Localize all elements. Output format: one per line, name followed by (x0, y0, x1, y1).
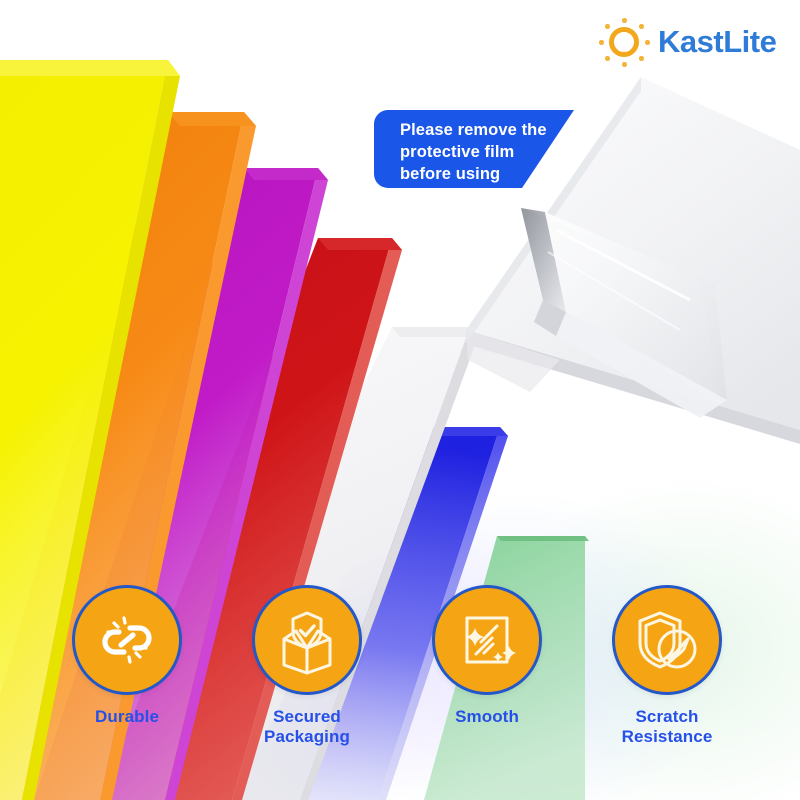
product-marketing-image: KastLite Please remove the protective fi… (0, 0, 800, 800)
feature-secured-packaging: Secured Packaging (217, 585, 397, 748)
scratch-resistance-label: Scratch Resistance (577, 707, 757, 748)
feature-scratch-resistance: Scratch Resistance (577, 585, 757, 748)
sun-icon (596, 18, 652, 68)
brand-name: KastLite (658, 24, 776, 60)
smooth-label: Smooth (397, 707, 577, 727)
secured-packaging-line-2: Packaging (217, 727, 397, 747)
shield-blade-icon (632, 605, 702, 675)
callout-line-1: Please remove the (400, 120, 580, 142)
feature-durable: Durable (37, 585, 217, 727)
smooth-badge (432, 585, 542, 695)
scratch-resistance-line-1: Scratch (577, 707, 757, 727)
scratch-resistance-badge (612, 585, 722, 695)
feature-smooth: Smooth (397, 585, 577, 727)
secured-packaging-label: Secured Packaging (217, 707, 397, 748)
durable-badge (72, 585, 182, 695)
chain-link-icon (94, 607, 160, 673)
shield-box-icon (272, 605, 342, 675)
brand-logo: KastLite (596, 16, 786, 70)
sparkle-panel-icon (453, 606, 521, 674)
secured-packaging-badge (252, 585, 362, 695)
secured-packaging-line-1: Secured (217, 707, 397, 727)
durable-label: Durable (37, 707, 217, 727)
scratch-resistance-line-2: Resistance (577, 727, 757, 747)
